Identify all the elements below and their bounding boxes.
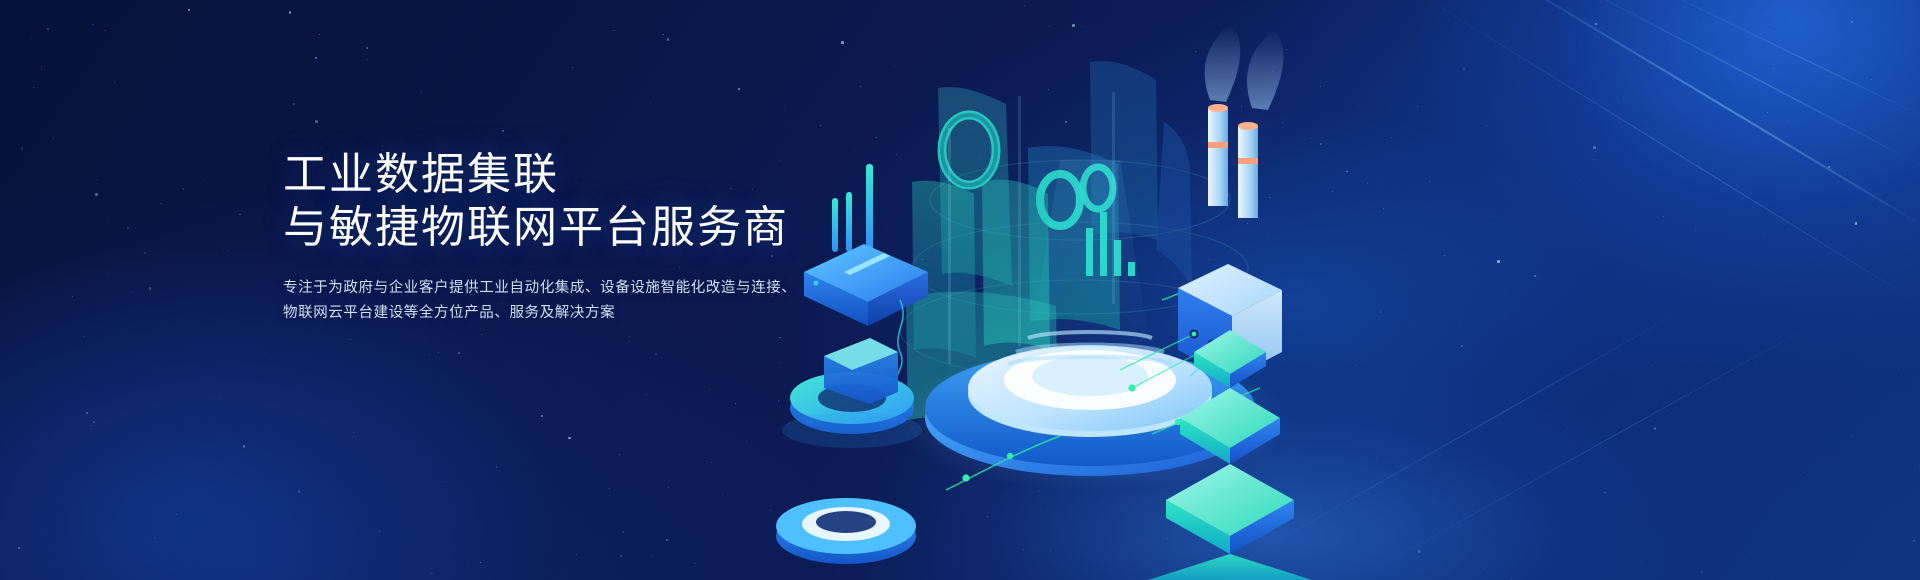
isometric-illustration [760,0,1920,580]
headline-line-1: 工业数据集联 [283,150,559,199]
hero-banner: 工业数据集联 与敏捷物联网平台服务商 专注于为政府与企业客户提供工业自动化集成、… [0,0,1920,580]
cable-node [1007,453,1013,459]
smoke-plume-left [1205,24,1241,102]
router-antenna-mid [846,192,852,252]
ring-hole [816,511,876,533]
chimney-left [1208,108,1228,206]
smoke-plume-right [1247,30,1283,110]
pyramid-base [1148,554,1312,580]
chimney-right [1238,126,1258,218]
chimney-left-band [1208,142,1228,148]
tower-panel-right [1156,122,1192,286]
cable-node [962,474,969,481]
router-antenna-short [832,198,838,252]
chimney-left-rim [1208,104,1228,112]
router-led-dot [814,281,819,286]
chimney-right-rim [1238,122,1258,130]
ring-platform [776,498,916,564]
chimney-right-band [1238,158,1258,164]
cable-node [1128,384,1135,391]
router-antenna-tall [866,164,873,250]
